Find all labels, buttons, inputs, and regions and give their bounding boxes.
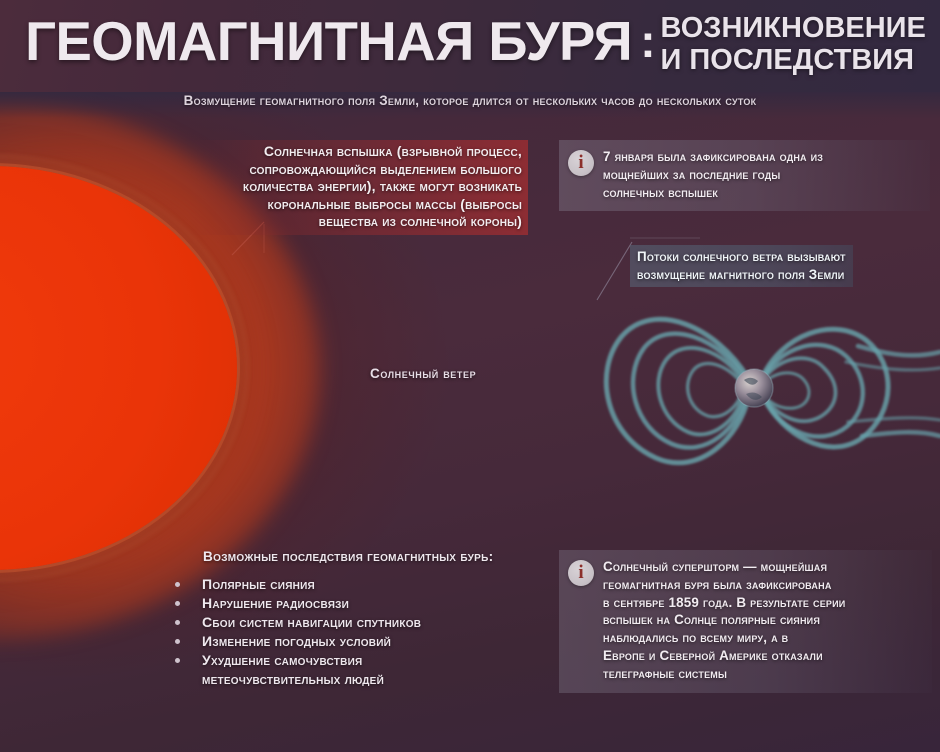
info-icon: i [568, 150, 594, 176]
list-item: Ухудшение самочувствия метеочувствительн… [203, 651, 543, 688]
page-title: ГЕОМАГНИТНАЯ БУРЯ [25, 10, 632, 72]
list-item: Нарушение радиосвязи [203, 594, 543, 613]
magnetosphere-diagram [596, 286, 940, 494]
info-line: наблюдались по всему миру, а в [603, 629, 922, 647]
title-right: ВОЗНИКНОВЕНИЕ И ПОСЛЕДСТВИЯ [661, 12, 926, 76]
list-item: Изменение погодных условий [203, 632, 543, 651]
callout-line: вещества из солнечной короны) [194, 213, 522, 231]
info-line: Солнечный супершторм — мощнейшая [603, 558, 922, 576]
solar-wind-callout: Потоки солнечного ветра вызывают возмуще… [630, 245, 853, 287]
list-item-line: Изменение погодных условий [202, 633, 391, 649]
bullet-icon [175, 620, 180, 625]
info-line: Европе и Северной Америке отказали [603, 647, 922, 665]
info-line: мощнейших за последние годы [603, 166, 920, 184]
list-item-line: метеочувствительных людей [202, 670, 543, 689]
callout-line: корональные выбросы массы (выбросы [194, 196, 522, 214]
list-item: Сбои систем навигации спутников [203, 613, 543, 632]
solar-wind-label: Солнечный ветер [370, 366, 476, 381]
callout-line: сопровождающийся выделением большого [194, 161, 522, 179]
info-line: солнечных вспышек [603, 184, 920, 202]
title-right-line-2: И ПОСЛЕДСТВИЯ [661, 44, 926, 76]
consequences-title: Возможные последствия геомагнитных бурь: [203, 548, 543, 566]
info-icon: i [568, 560, 594, 586]
title-row: ГЕОМАГНИТНАЯ БУРЯ : ВОЗНИКНОВЕНИЕ И ПОСЛ… [22, 10, 922, 82]
bullet-icon [175, 639, 180, 644]
callout-line: Потоки солнечного ветра вызывают [637, 248, 846, 266]
title-colon: : [640, 10, 655, 72]
title-right-line-1: ВОЗНИКНОВЕНИЕ [661, 12, 926, 44]
bullet-icon [175, 582, 180, 587]
info-line: 7 января была зафиксирована одна из [603, 148, 920, 166]
info-line: вспышек на Солнце полярные сияния [603, 611, 922, 629]
list-item-line: Нарушение радиосвязи [202, 595, 349, 611]
callout-line: количества энергии), также могут возника… [194, 178, 522, 196]
callout-line: Солнечная вспышка (взрывной процесс, [194, 143, 522, 161]
consequences-section: Возможные последствия геомагнитных бурь:… [203, 548, 543, 688]
infographic-poster: ГЕОМАГНИТНАЯ БУРЯ : ВОЗНИКНОВЕНИЕ И ПОСЛ… [0, 0, 940, 752]
info-text: 7 января была зафиксирована одна из мощн… [603, 148, 920, 201]
solar-flare-callout: Солнечная вспышка (взрывной процесс, соп… [188, 140, 528, 235]
subtitle: Возмущение геомагнитного поля Земли, кот… [0, 93, 940, 108]
bullet-icon [175, 601, 180, 606]
consequences-list: Полярные сияния Нарушение радиосвязи Сбо… [203, 575, 543, 688]
callout-line: возмущение магнитного поля Земли [637, 266, 846, 284]
list-item-line: Ухудшение самочувствия [202, 651, 543, 670]
info-box-flare-record: i 7 января была зафиксирована одна из мо… [559, 140, 930, 211]
info-line: в сентябре 1859 года. В результате серии [603, 594, 922, 612]
list-item-text: Полярные сияния [202, 575, 543, 594]
list-item: Полярные сияния [203, 575, 543, 594]
header-band: ГЕОМАГНИТНАЯ БУРЯ : ВОЗНИКНОВЕНИЕ И ПОСЛ… [0, 0, 940, 92]
bullet-icon [175, 658, 180, 663]
info-text: Солнечный супершторм — мощнейшая геомагн… [603, 558, 922, 683]
list-item-text: Нарушение радиосвязи [202, 594, 543, 613]
info-box-superstorm: i Солнечный супершторм — мощнейшая геома… [559, 550, 932, 693]
info-line: телеграфные системы [603, 665, 922, 683]
list-item-text: Сбои систем навигации спутников [202, 613, 543, 632]
info-line: геомагнитная буря была зафиксирована [603, 576, 922, 594]
list-item-text: Изменение погодных условий [202, 632, 543, 651]
list-item-line: Сбои систем навигации спутников [202, 614, 421, 630]
list-item-line: Полярные сияния [202, 576, 315, 592]
list-item-text: Ухудшение самочувствия метеочувствительн… [202, 651, 543, 688]
